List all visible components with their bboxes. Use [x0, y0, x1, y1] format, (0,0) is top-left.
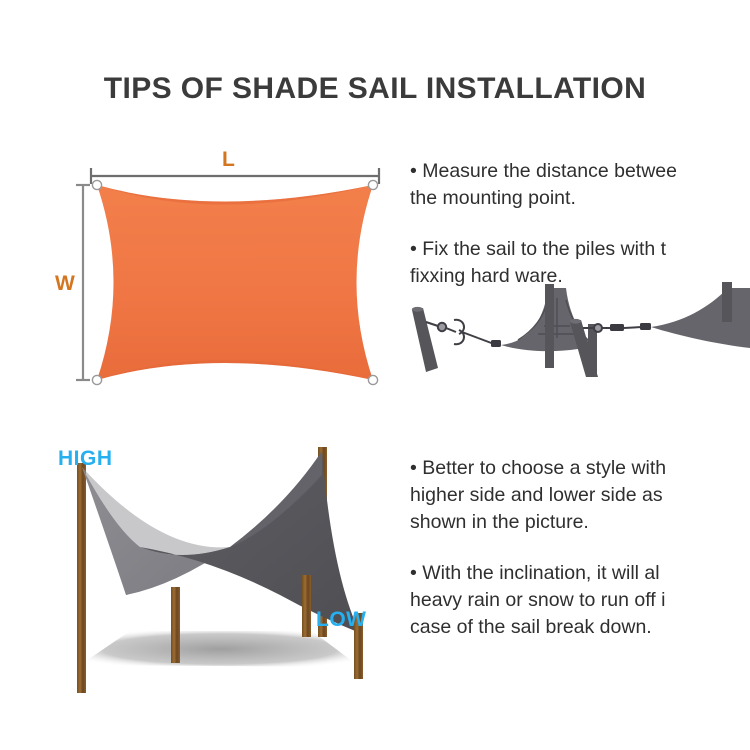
bullet-line: heavy rain or snow to run off i: [410, 587, 750, 614]
width-dimension-line: [76, 185, 90, 380]
rect-sail-svg: [40, 140, 390, 400]
length-dimension-label: L: [222, 148, 235, 172]
sail-body: [97, 185, 373, 380]
cable-clamp-icon: [491, 340, 501, 347]
bullet-line: • Better to choose a style with: [410, 455, 750, 482]
hardware-detail-row: [398, 282, 750, 377]
bullet-line: • Measure the distance betwee: [410, 158, 750, 185]
inclined-sails-diagram: [30, 435, 405, 700]
turnbuckle-icon: [583, 324, 612, 332]
infographic-page: TIPS OF SHADE SAIL INSTALLATION: [0, 0, 750, 750]
pole-back-left: [77, 463, 86, 693]
cable-clamp-icon: [640, 323, 651, 330]
hardware-detail-svg: [398, 282, 750, 377]
post-icon: [722, 282, 732, 322]
rect-sail-diagram: [40, 140, 390, 400]
pole-icon: [412, 307, 438, 372]
text-gap: [410, 212, 750, 236]
post-icon: [545, 284, 554, 368]
bullet-line: • Fix the sail to the piles with t: [410, 236, 750, 263]
cable-icon: [624, 327, 642, 328]
page-title: TIPS OF SHADE SAIL INSTALLATION: [0, 72, 750, 106]
hardware-detail-left: [412, 284, 597, 374]
inclined-sails-svg: [30, 435, 405, 700]
low-side-label: LOW: [316, 608, 366, 632]
bullet-line: case of the sail break down.: [410, 614, 750, 641]
pole-front-left: [171, 587, 180, 663]
high-side-label: HIGH: [58, 447, 113, 471]
cable-clamp-icon: [610, 324, 624, 331]
tips-list-top: • Measure the distance betwee the mounti…: [410, 158, 750, 290]
bullet-line: shown in the picture.: [410, 509, 750, 536]
bullet-line: higher side and lower side as: [410, 482, 750, 509]
turnbuckle-icon: [426, 320, 478, 344]
sail-corner: [651, 288, 750, 348]
bullet-line: the mounting point.: [410, 185, 750, 212]
text-gap: [410, 536, 750, 560]
width-dimension-label: W: [55, 272, 75, 296]
bullet-line: • With the inclination, it will al: [410, 560, 750, 587]
tips-list-bottom: • Better to choose a style with higher s…: [410, 455, 750, 641]
pole-front-right: [302, 575, 311, 637]
